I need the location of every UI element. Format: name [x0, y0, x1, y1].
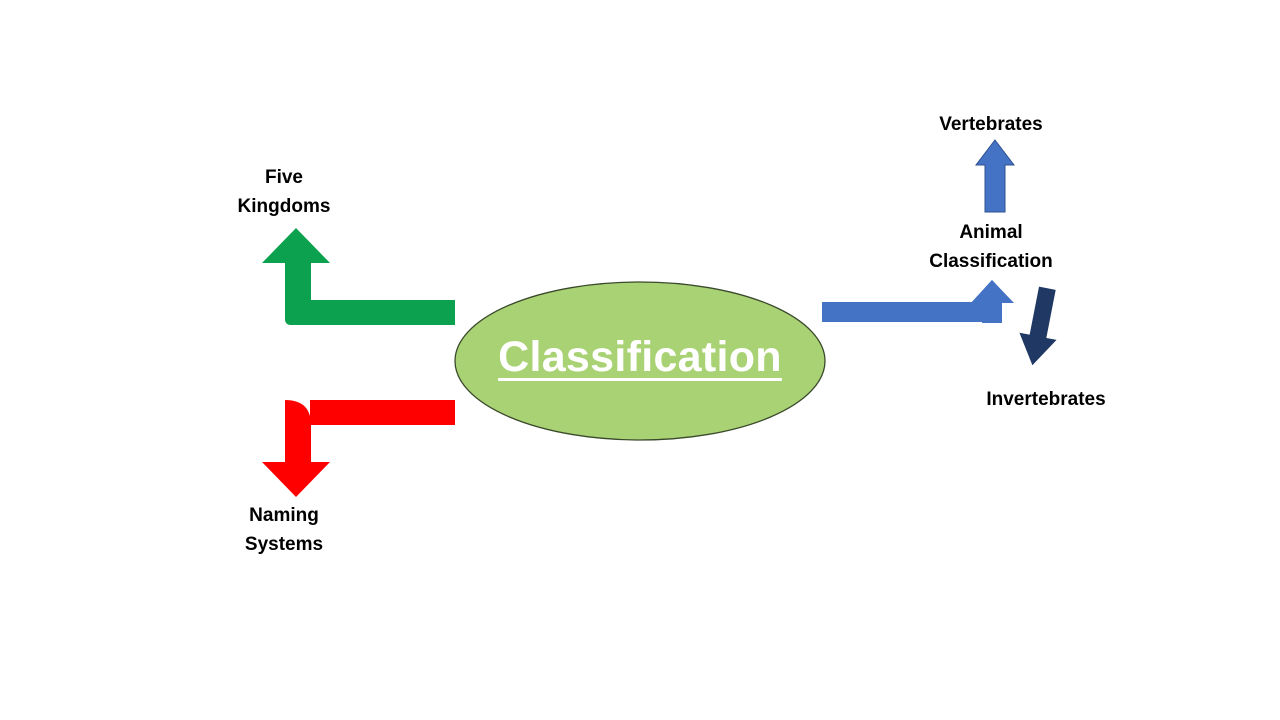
- label-invertebrates: Invertebrates: [946, 385, 1146, 414]
- label-naming-systems: Naming Systems: [184, 501, 384, 559]
- label-animal-classification: Animal Classification: [891, 218, 1091, 276]
- label-vertebrates: Vertebrates: [891, 110, 1091, 139]
- arrow-naming-systems-shaft: [310, 400, 455, 425]
- arrow-animal-classification-riser: [982, 300, 1002, 323]
- arrow-animal-classification-head: [971, 280, 1014, 303]
- center-node-label: Classification: [440, 333, 840, 382]
- arrow-naming-systems-joint: [285, 400, 311, 425]
- arrow-five-kingdoms-shaft: [310, 300, 455, 325]
- arrow-animal-classification-shaft: [822, 302, 982, 322]
- arrow-invertebrates[interactable]: [1015, 285, 1065, 367]
- label-five-kingdoms: Five Kingdoms: [184, 163, 384, 221]
- arrow-vertebrates[interactable]: [976, 140, 1014, 212]
